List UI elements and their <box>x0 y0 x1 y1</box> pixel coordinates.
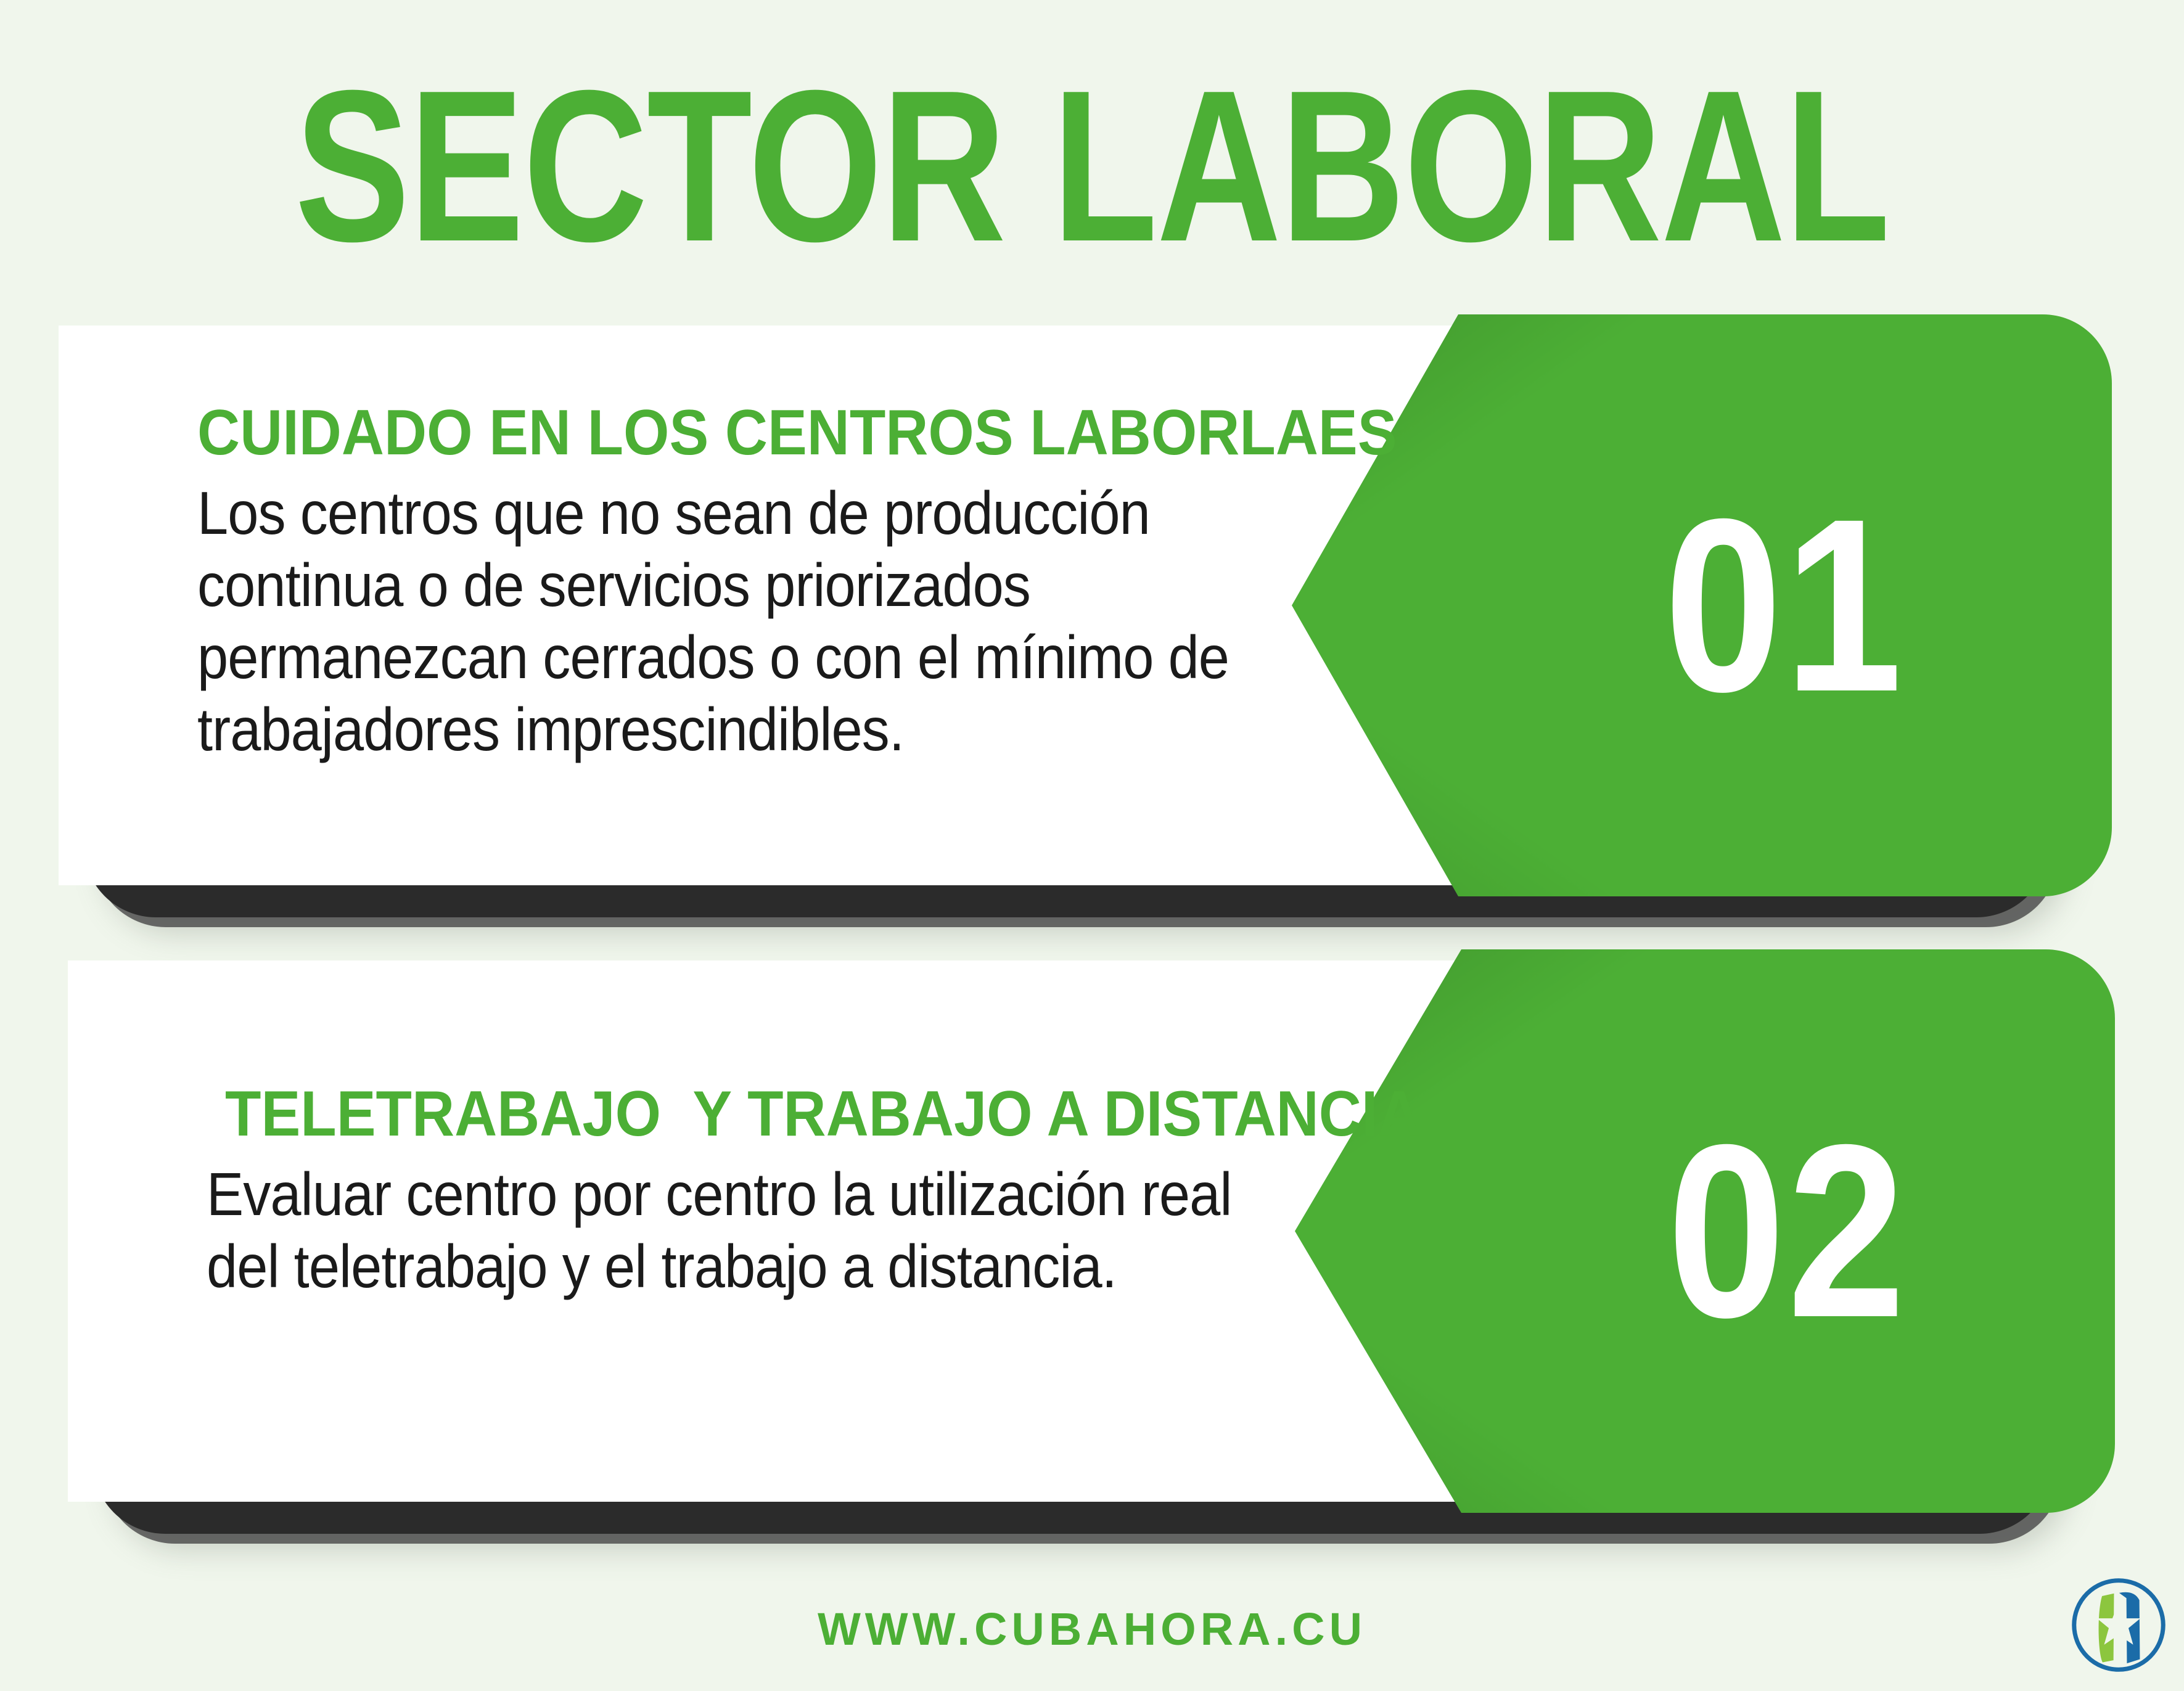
card-text-01: Los centros que no sean de producción co… <box>197 477 1309 766</box>
infographic-poster: SECTOR LABORAL 01 CUIDADO EN LOS CENTROS… <box>0 0 2184 1691</box>
step-number-badge-01: 01 <box>1292 314 2112 896</box>
card-heading-01: CUIDADO EN LOS CENTROS LABORLAES <box>197 399 1309 466</box>
info-card-02: 02 TELETRABAJO Y TRABAJO A DISTANCIA Eva… <box>68 960 2041 1502</box>
step-number-01: 01 <box>1664 488 1905 723</box>
step-number-badge-02: 02 <box>1295 949 2115 1513</box>
card-text-02: Evaluar centro por centro la utilización… <box>207 1158 1307 1303</box>
card-content-02: TELETRABAJO Y TRABAJO A DISTANCIA Evalua… <box>207 1081 1403 1303</box>
footer-website-url[interactable]: WWW.CUBAHORA.CU <box>0 1603 2184 1655</box>
step-number-02: 02 <box>1667 1114 1908 1348</box>
page-title: SECTOR LABORAL <box>218 65 1966 268</box>
info-card-01: 01 CUIDADO EN LOS CENTROS LABORLAES Los … <box>59 326 2038 885</box>
card-heading-02: TELETRABAJO Y TRABAJO A DISTANCIA <box>225 1081 1308 1147</box>
cubahora-logo-icon <box>2067 1573 2170 1677</box>
card-content-01: CUIDADO EN LOS CENTROS LABORLAES Los cen… <box>197 399 1406 766</box>
